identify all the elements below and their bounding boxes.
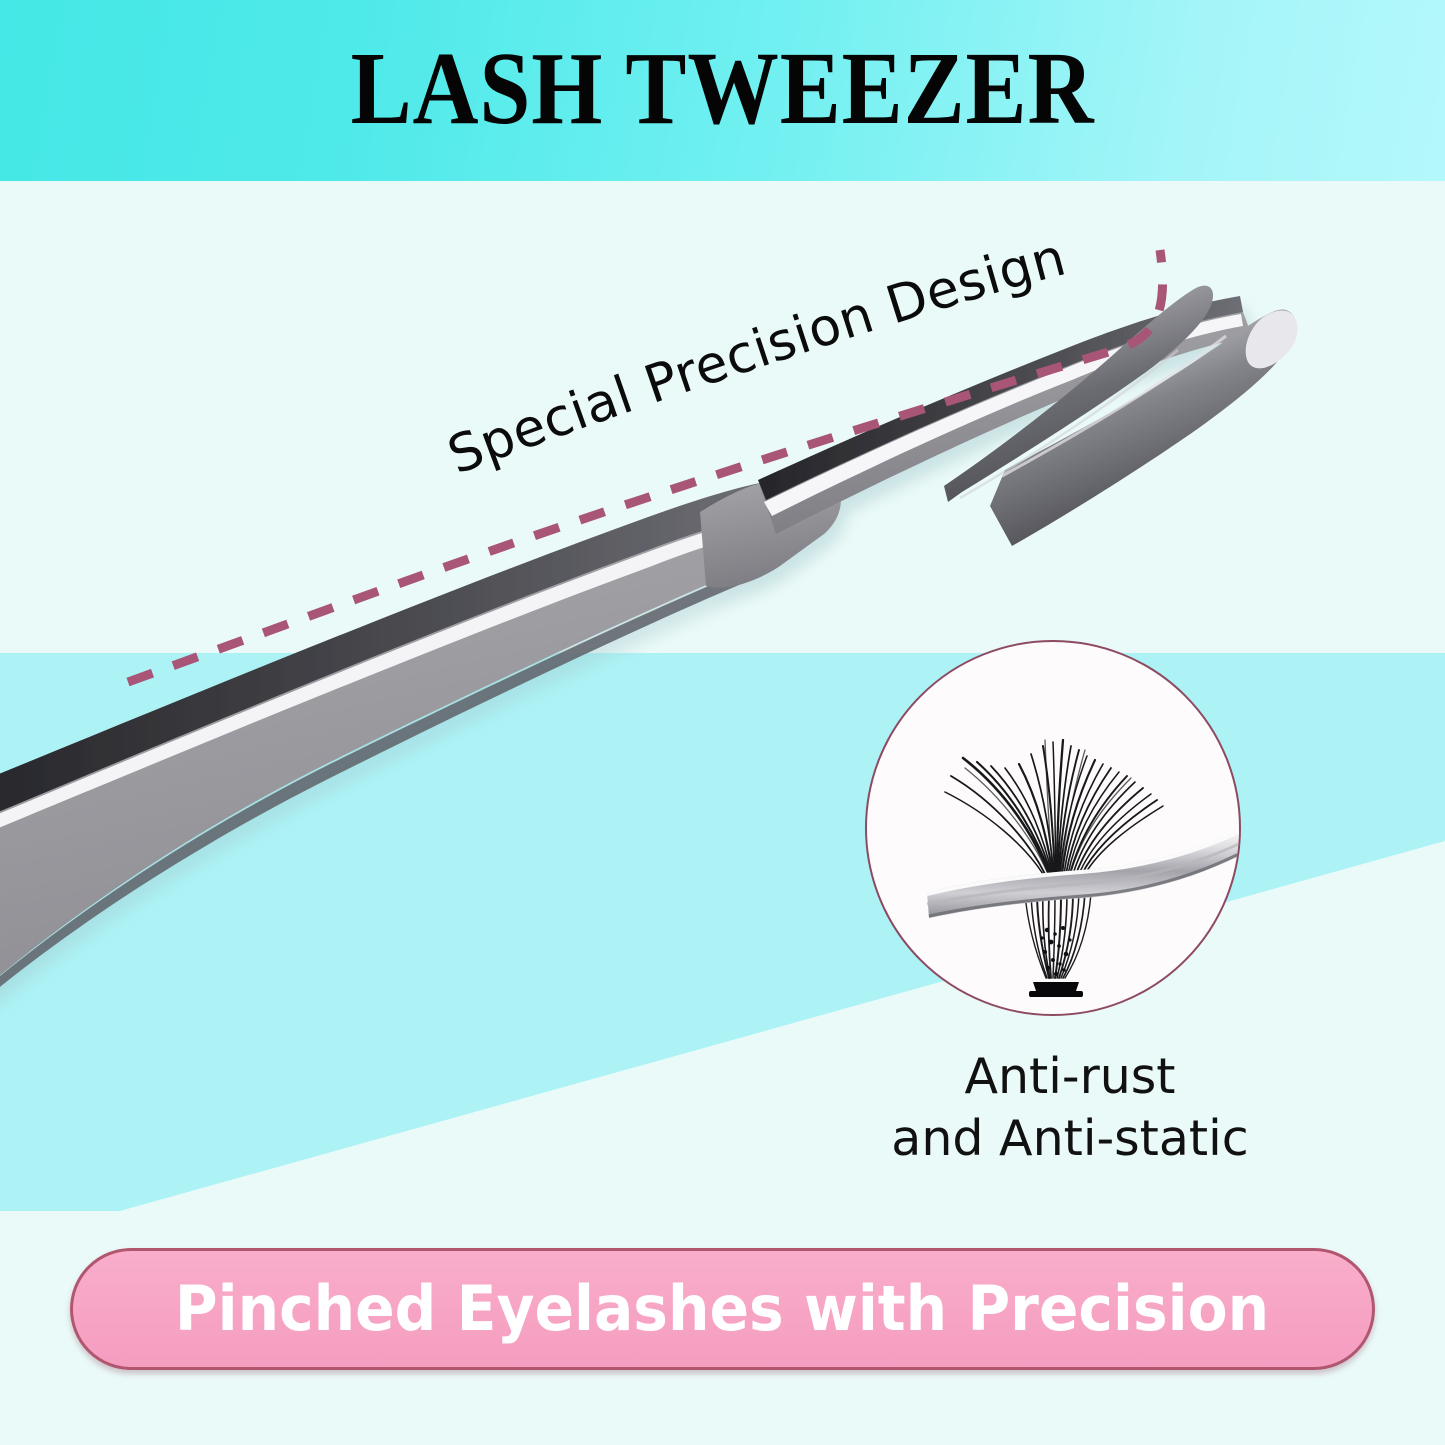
product-marketing-image: LASH TWEEZER: [0, 0, 1445, 1445]
feature-caption-line-2: and Anti-static: [810, 1108, 1330, 1170]
page-title: LASH TWEEZER: [87, 34, 1359, 144]
tagline-banner: Pinched Eyelashes with Precision: [70, 1248, 1375, 1370]
feature-caption-line-1: Anti-rust: [810, 1046, 1330, 1108]
tagline-label: Pinched Eyelashes with Precision: [175, 1277, 1269, 1341]
lash-fan-illustration: [867, 642, 1241, 1016]
lash-fan-inset: [865, 640, 1241, 1016]
feature-caption: Anti-rust and Anti-static: [810, 1046, 1330, 1170]
